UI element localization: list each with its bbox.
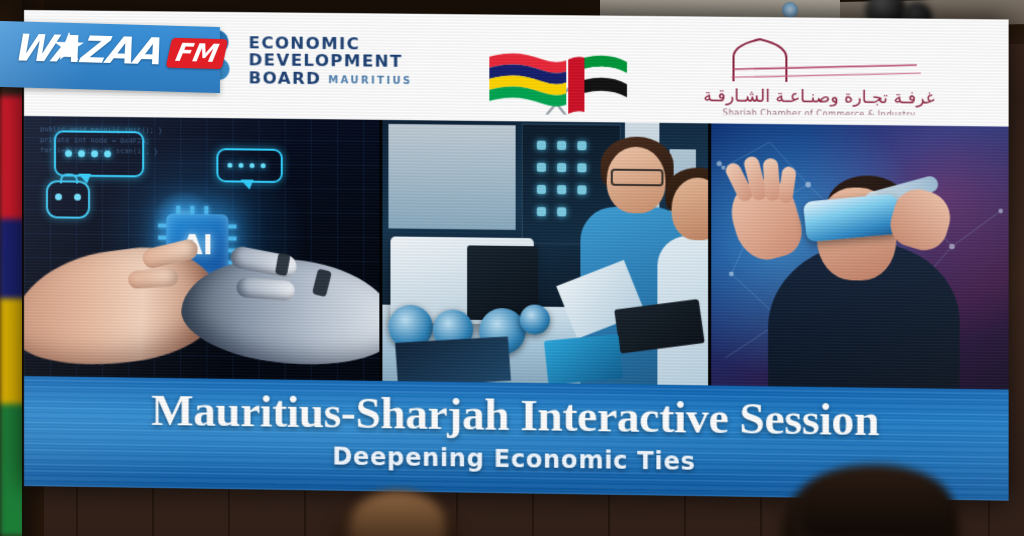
audience-member-2-hair	[800, 466, 950, 536]
wazaa-fm-badge: FM	[166, 37, 228, 68]
mauritius-flag-icon	[489, 53, 566, 106]
photo-robotics-lab	[382, 120, 708, 388]
robot-wheel-4	[519, 304, 549, 335]
edb-line-3: BOARD	[249, 69, 322, 87]
crossed-flags-icon	[481, 43, 633, 119]
photo-ai-handshake: public void main(){ init(); }private int…	[24, 116, 379, 383]
lab-equipment-rack	[388, 124, 515, 230]
chatbot-icon	[46, 180, 90, 219]
wazaa-wordmark: WAZAA	[12, 29, 167, 70]
sharjah-chamber-logo: غرفـة تجـارة وصنـاعـة الشـارقـة Sharjah …	[697, 37, 941, 124]
sharjah-arch-icon	[697, 37, 941, 86]
sharjah-arabic-text: غرفـة تجـارة وصنـاعـة الشـارقـة	[697, 86, 941, 109]
vr-headset-icon	[803, 193, 900, 242]
wazaa-fm-logo: WAZAA FM	[0, 21, 220, 93]
human-finger-2	[128, 268, 179, 289]
lab-printout	[395, 337, 511, 387]
photo-strip: public void main(){ init(); }private int…	[24, 116, 1009, 392]
lab-tablet	[544, 334, 623, 385]
uae-flag-icon	[568, 55, 627, 114]
photo-vr-experience	[711, 123, 1009, 391]
photo-scene: ECONOMIC DEVELOPMENT BOARD MAURITIUS	[0, 0, 1024, 536]
ceiling-downlight-icon	[782, 2, 798, 18]
edb-country: MAURITIUS	[328, 76, 412, 87]
chat-bubble-icon	[54, 130, 144, 177]
sharjah-english-text: Sharjah Chamber of Commerce & Industry	[697, 107, 941, 120]
chat-bubble-icon-small	[216, 148, 282, 183]
lab-engineer-1-glasses-icon	[611, 169, 664, 187]
star-icon	[54, 31, 84, 62]
